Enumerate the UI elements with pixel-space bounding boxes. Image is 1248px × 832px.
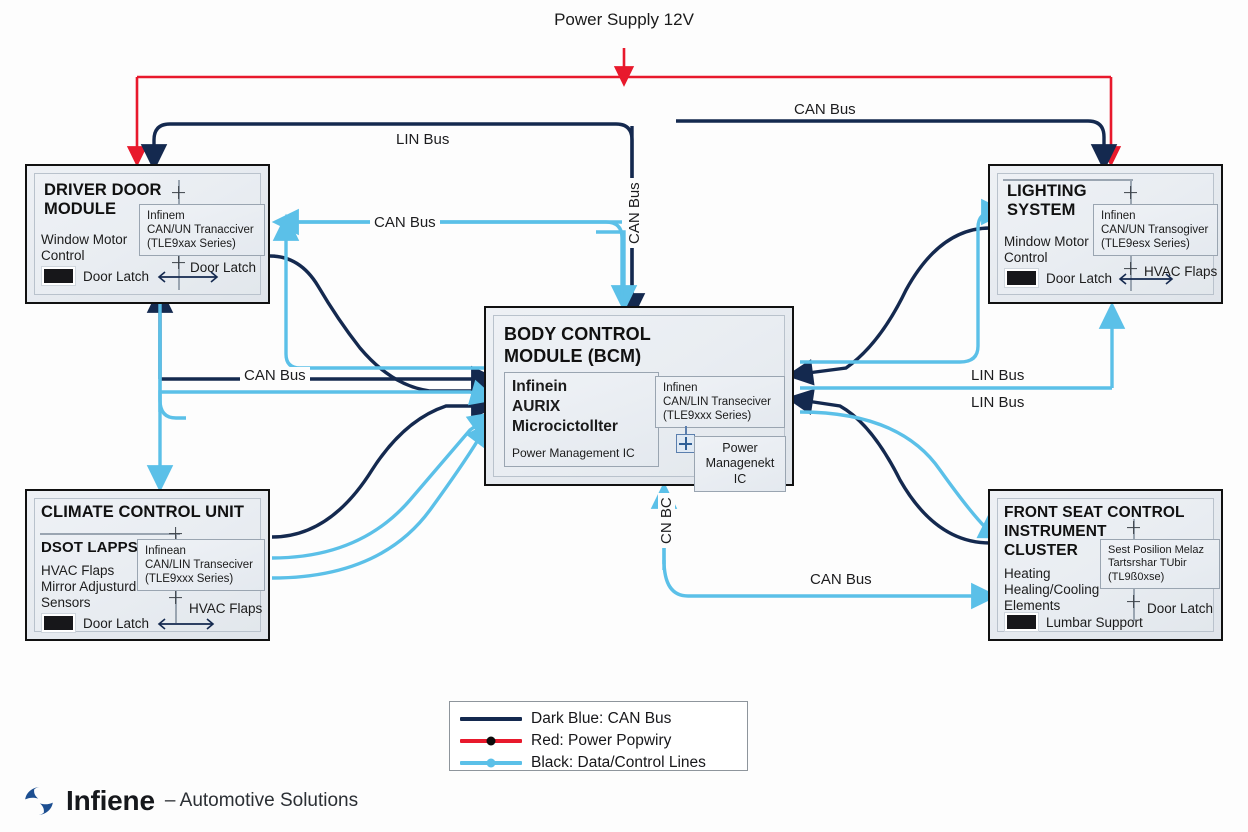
front-seat-connector-icon-2 xyxy=(1127,595,1140,608)
module-driver-door[interactable]: DRIVER DOOR MODULE Infinem CAN/UN Tranac… xyxy=(25,164,270,304)
front-seat-connector-icon-1 xyxy=(1127,521,1140,534)
bus-label-can-left-upper: CAN Bus xyxy=(370,214,440,231)
bus-label-can-vertical-top: CAN Bus xyxy=(626,178,643,248)
bus-label-can-vertical-bottom: CN BC xyxy=(658,493,675,548)
brand-name: Infiene xyxy=(66,785,155,817)
driver-door-actuator-icon xyxy=(41,266,76,286)
module-climate-control-title: CLIMATE CONTROL UNIT xyxy=(41,503,244,522)
legend-label-power: Red: Power Popwiry xyxy=(531,732,671,750)
bus-label-can-top-right: CAN Bus xyxy=(790,101,860,118)
bus-label-lin-right-upper: LIN Bus xyxy=(967,367,1028,384)
legend-item-can: Dark Blue: CAN Bus xyxy=(460,708,671,730)
bcm-pmic-label: Power Management IC xyxy=(512,443,651,463)
module-lighting-system-subtext: Mindow Motor Control xyxy=(1004,234,1089,266)
front-seat-label-bottom: Lumbar Support xyxy=(1046,615,1143,630)
lighting-connector-icon-1 xyxy=(1124,186,1137,199)
climate-connector-icon-2 xyxy=(169,591,182,604)
front-seat-label-right: Door Latch xyxy=(1147,601,1213,616)
module-bcm-title: BODY CONTROL MODULE (BCM) xyxy=(504,323,651,367)
lighting-transceiver-chip: Infinen CAN/UN Transogiver (TLE9esx Seri… xyxy=(1093,204,1218,256)
lighting-actuator-icon xyxy=(1004,268,1039,288)
legend-item-data: Black: Data/Control Lines xyxy=(460,752,706,774)
driver-door-transceiver-chip: Infinem CAN/UN Tranacciver (TLE9xax Seri… xyxy=(139,204,265,256)
climate-latch-arrow-icon xyxy=(157,617,215,631)
legend-dot-data-icon xyxy=(487,759,496,768)
legend-label-can: Dark Blue: CAN Bus xyxy=(531,710,671,728)
bus-label-lin-right-lower: LIN Bus xyxy=(967,394,1028,411)
legend-item-power: Red: Power Popwiry xyxy=(460,730,671,752)
driver-door-connector-icon-2 xyxy=(172,256,185,269)
module-front-seat-control[interactable]: FRONT SEAT CONTROL INSTRUMENT CLUSTER Se… xyxy=(988,489,1223,641)
climate-actuator-icon xyxy=(41,613,76,633)
bus-label-can-left-mid: CAN Bus xyxy=(240,367,310,384)
module-climate-control[interactable]: CLIMATE CONTROL UNIT DSOT LAPPS Infinean… xyxy=(25,489,270,641)
climate-divider xyxy=(40,533,180,535)
climate-subheading: DSOT LAPPS xyxy=(41,539,138,556)
module-lighting-system[interactable]: LIGHTING SYSTEM Infinen CAN/UN Transogiv… xyxy=(988,164,1223,304)
bcm-power-management-ic: Power Managenekt IC xyxy=(694,436,786,492)
driver-door-label-bottom: Door Latch xyxy=(83,269,149,284)
driver-door-connector-icon-1 xyxy=(172,186,185,199)
infineon-logo-icon xyxy=(22,784,56,818)
bcm-mcu-chip: Infinein AURIX Microcictollter Power Man… xyxy=(504,372,659,467)
diagram-canvas: Power Supply 12V xyxy=(0,0,1248,832)
lighting-label-bottom: Door Latch xyxy=(1046,271,1112,286)
module-lighting-system-title: LIGHTING SYSTEM xyxy=(1007,182,1087,220)
module-driver-door-subtext: Window Motor Control xyxy=(41,232,127,264)
legend-dot-power-icon xyxy=(487,737,496,746)
module-climate-control-subtext: HVAC Flaps Mirror Adjusturd Sensors xyxy=(41,563,136,611)
legend: Dark Blue: CAN Bus Red: Power Popwiry Bl… xyxy=(449,701,748,771)
climate-transceiver-chip: Infinean CAN/LIN Transeciver (TLE9xxx Se… xyxy=(137,539,265,591)
lighting-divider xyxy=(1003,179,1133,181)
climate-label-bottom: Door Latch xyxy=(83,616,149,631)
climate-label-right: HVAC Flaps xyxy=(189,601,262,616)
legend-label-data: Black: Data/Control Lines xyxy=(531,754,706,772)
lighting-latch-arrow-icon xyxy=(1118,272,1174,286)
legend-swatch-data-icon xyxy=(460,761,522,765)
front-seat-position-chip: Sest Posilion Melaz Tartsrshar TUbir (TL… xyxy=(1100,539,1220,589)
module-bcm[interactable]: BODY CONTROL MODULE (BCM) Infinein AURIX… xyxy=(484,306,794,486)
legend-swatch-can-icon xyxy=(460,717,522,721)
brand-tagline: – Automotive Solutions xyxy=(165,790,358,812)
bus-label-can-bottom: CAN Bus xyxy=(806,571,876,588)
module-front-seat-subtext: Heating Healing/Cooling Elements xyxy=(1004,566,1099,614)
power-supply-title: Power Supply 12V xyxy=(0,10,1248,30)
brand-footer: Infiene – Automotive Solutions xyxy=(22,784,358,818)
bcm-transceiver-chip: Infinen CAN/LIN Transeciver (TLE9xxx Ser… xyxy=(655,376,785,428)
bcm-pmic-connector-icon xyxy=(676,434,695,453)
legend-swatch-power-icon xyxy=(460,739,522,743)
bus-label-lin-top: LIN Bus xyxy=(392,131,453,148)
driver-door-latch-arrow-icon xyxy=(157,270,219,284)
front-seat-actuator-icon xyxy=(1004,612,1039,632)
